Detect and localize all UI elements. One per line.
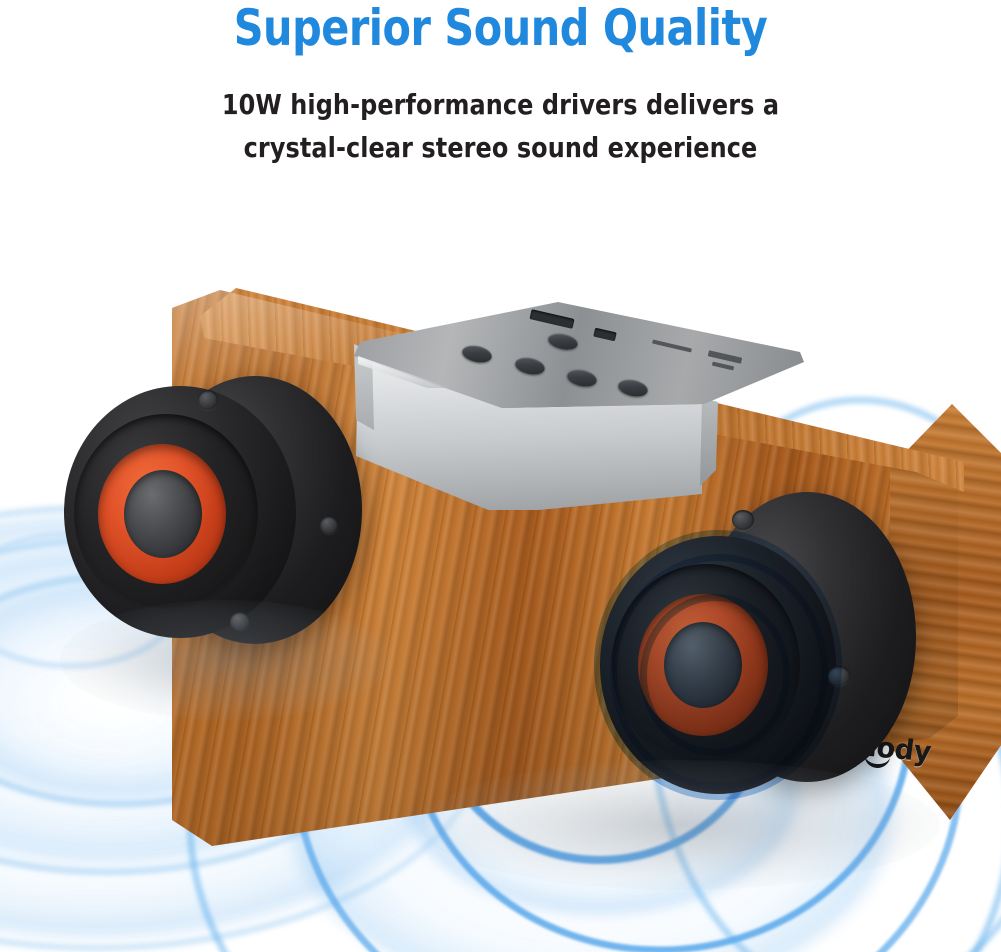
left-driver-ground-shadow	[60, 600, 390, 720]
bluetooth-speaker-product: Smalody	[0, 0, 1001, 952]
right-driver-screw-bottom	[828, 666, 850, 686]
control-panel: Smalody	[352, 300, 812, 510]
cabinet-ground-shadow	[420, 760, 940, 890]
left-driver-screw-right	[320, 516, 338, 534]
right-driver-screw-top	[732, 510, 754, 530]
left-driver-screw-top	[198, 390, 218, 410]
left-driver-dust-cap	[124, 470, 202, 558]
marketing-banner: Superior Sound Quality 10W high-performa…	[0, 0, 1001, 952]
right-driver-dust-cap	[664, 622, 742, 708]
